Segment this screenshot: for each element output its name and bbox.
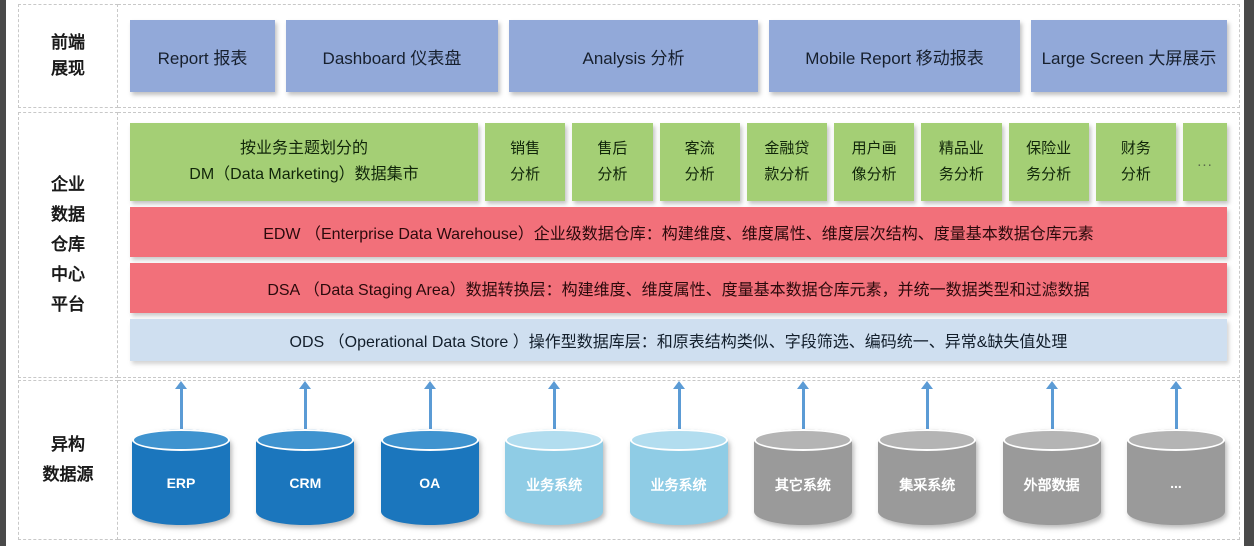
connector-line: [180, 387, 183, 429]
frontend-label-line-1: 前端: [51, 30, 85, 56]
cylinder-label: 集采系统: [878, 475, 976, 495]
data-source-layer-body: ERP CRM OA: [118, 380, 1240, 540]
warehouse-label-line-5: 平台: [51, 290, 85, 320]
topic-customer-flow-line-2: 分析: [685, 162, 715, 188]
topic-customer-flow-line-1: 客流: [685, 136, 715, 162]
cylinder-label: 业务系统: [505, 475, 603, 495]
data-source-layer-label: 异构 数据源: [18, 380, 118, 540]
topic-after-sales-line-2: 分析: [597, 162, 627, 188]
cylinder-top-ellipse: [1127, 429, 1225, 451]
topic-sales-line-2: 分析: [510, 162, 540, 188]
data-mart-topic-after-sales[interactable]: 售后 分析: [572, 123, 652, 201]
data-source-cylinder-business-system-1[interactable]: 业务系统: [505, 413, 603, 525]
data-source-layer-row: 异构 数据源 ERP CRM: [18, 380, 1240, 540]
data-mart-topic-finance[interactable]: 财务 分析: [1096, 123, 1176, 201]
cylinder-top-ellipse: [381, 429, 479, 451]
warehouse-label-line-4: 中心: [51, 260, 85, 290]
connector-line: [1175, 387, 1178, 429]
data-source-cylinder-procurement-system[interactable]: 集采系统: [878, 413, 976, 525]
topic-premium-business-line-2: 务分析: [939, 162, 984, 188]
data-source-cylinder-erp[interactable]: ERP: [132, 413, 230, 525]
data-mart-main-box[interactable]: 按业务主题划分的 DM（Data Marketing）数据集市: [130, 123, 478, 201]
data-mart-topic-premium-business[interactable]: 精品业 务分析: [921, 123, 1001, 201]
dsa-layer-bar[interactable]: DSA （Data Staging Area）数据转换层：构建维度、维度属性、度…: [130, 263, 1227, 313]
topic-insurance-business-line-2: 务分析: [1026, 162, 1071, 188]
data-source-cylinder-business-system-2[interactable]: 业务系统: [630, 413, 728, 525]
cylinder-top-ellipse: [878, 429, 976, 451]
cylinder-top-ellipse: [754, 429, 852, 451]
cylinder-top-ellipse: [132, 429, 230, 451]
data-source-cylinder-other-system[interactable]: 其它系统: [754, 413, 852, 525]
frontend-box-mobile-report[interactable]: Mobile Report 移动报表: [769, 20, 1020, 92]
cylinder-label: ERP: [132, 475, 230, 491]
data-mart-topic-insurance-business[interactable]: 保险业 务分析: [1009, 123, 1089, 201]
frontend-layer-body: Report 报表 Dashboard 仪表盘 Analysis 分析 Mobi…: [118, 4, 1240, 108]
cylinder-label: ...: [1127, 475, 1225, 491]
topic-user-profile-line-1: 用户画: [852, 136, 897, 162]
warehouse-label-line-2: 数据: [51, 200, 85, 230]
cylinder-shape: CRM: [256, 429, 354, 525]
cylinder-label: 外部数据: [1003, 475, 1101, 495]
topic-insurance-business-line-1: 保险业: [1026, 136, 1071, 162]
cylinder-shape: OA: [381, 429, 479, 525]
frontend-label-line-2: 展现: [51, 56, 85, 82]
connector-line: [1051, 387, 1054, 429]
cylinder-shape: 业务系统: [505, 429, 603, 525]
data-source-cylinder-external-data[interactable]: 外部数据: [1003, 413, 1101, 525]
data-mart-main-line-2: DM（Data Marketing）数据集市: [189, 162, 418, 188]
topic-finance-line-2: 分析: [1121, 162, 1151, 188]
cylinder-label: 其它系统: [754, 475, 852, 495]
cylinder-top-ellipse: [505, 429, 603, 451]
cylinder-shape: 外部数据: [1003, 429, 1101, 525]
data-source-cylinder-crm[interactable]: CRM: [256, 413, 354, 525]
data-mart-topic-user-profile[interactable]: 用户画 像分析: [834, 123, 914, 201]
connector-line: [304, 387, 307, 429]
data-mart-topic-sales[interactable]: 销售 分析: [485, 123, 565, 201]
frontend-layer-label: 前端 展现: [18, 4, 118, 108]
frontend-box-analysis[interactable]: Analysis 分析: [509, 20, 758, 92]
warehouse-layer-row: 企业 数据 仓库 中心 平台 按业务主题划分的 DM（Data Marketin…: [18, 112, 1240, 378]
data-mart-main-line-1: 按业务主题划分的: [189, 136, 418, 162]
warehouse-layer-body: 按业务主题划分的 DM（Data Marketing）数据集市 销售 分析 售后…: [118, 112, 1240, 378]
cylinder-top-ellipse: [256, 429, 354, 451]
topic-after-sales-line-1: 售后: [597, 136, 627, 162]
topic-premium-business-line-1: 精品业: [939, 136, 984, 162]
cylinder-shape: ...: [1127, 429, 1225, 525]
cylinder-shape: 集采系统: [878, 429, 976, 525]
topic-user-profile-line-2: 像分析: [852, 162, 897, 188]
data-mart-topic-customer-flow[interactable]: 客流 分析: [660, 123, 740, 201]
cylinder-top-ellipse: [1003, 429, 1101, 451]
data-source-label-line-2: 数据源: [43, 460, 94, 490]
cylinder-label: OA: [381, 475, 479, 491]
warehouse-layer-label: 企业 数据 仓库 中心 平台: [18, 112, 118, 378]
frontend-box-report[interactable]: Report 报表: [130, 20, 275, 92]
cylinder-shape: ERP: [132, 429, 230, 525]
connector-line: [429, 387, 432, 429]
frontend-box-large-screen[interactable]: Large Screen 大屏展示: [1031, 20, 1227, 92]
data-source-cylinder-oa[interactable]: OA: [381, 413, 479, 525]
data-mart-more-box[interactable]: ...: [1183, 123, 1227, 201]
topic-finance-loan-line-2: 款分析: [764, 162, 809, 188]
frontend-box-dashboard[interactable]: Dashboard 仪表盘: [286, 20, 498, 92]
cylinder-shape: 其它系统: [754, 429, 852, 525]
data-mart-line: 按业务主题划分的 DM（Data Marketing）数据集市 销售 分析 售后…: [130, 123, 1227, 201]
connector-line: [926, 387, 929, 429]
edw-layer-bar[interactable]: EDW （Enterprise Data Warehouse）企业级数据仓库：构…: [130, 207, 1227, 257]
topic-finance-loan-line-1: 金融贷: [764, 136, 809, 162]
connector-line: [678, 387, 681, 429]
warehouse-label-line-1: 企业: [51, 170, 85, 200]
connector-line: [553, 387, 556, 429]
architecture-diagram: 前端 展现 Report 报表 Dashboard 仪表盘 Analysis 分…: [6, 0, 1244, 546]
cylinder-top-ellipse: [630, 429, 728, 451]
cylinder-label: 业务系统: [630, 475, 728, 495]
topic-sales-line-1: 销售: [510, 136, 540, 162]
data-source-cylinder-more[interactable]: ...: [1127, 413, 1225, 525]
frontend-layer-row: 前端 展现 Report 报表 Dashboard 仪表盘 Analysis 分…: [18, 4, 1240, 108]
right-edge-border: [1244, 0, 1254, 546]
data-source-label-line-1: 异构: [43, 430, 94, 460]
data-mart-topic-finance-loan[interactable]: 金融贷 款分析: [747, 123, 827, 201]
cylinder-label: CRM: [256, 475, 354, 491]
warehouse-label-line-3: 仓库: [51, 230, 85, 260]
cylinder-shape: 业务系统: [630, 429, 728, 525]
topic-finance-line-1: 财务: [1121, 136, 1151, 162]
ods-layer-bar[interactable]: ODS （Operational Data Store ）操作型数据库层：和原表…: [130, 319, 1227, 361]
connector-line: [802, 387, 805, 429]
